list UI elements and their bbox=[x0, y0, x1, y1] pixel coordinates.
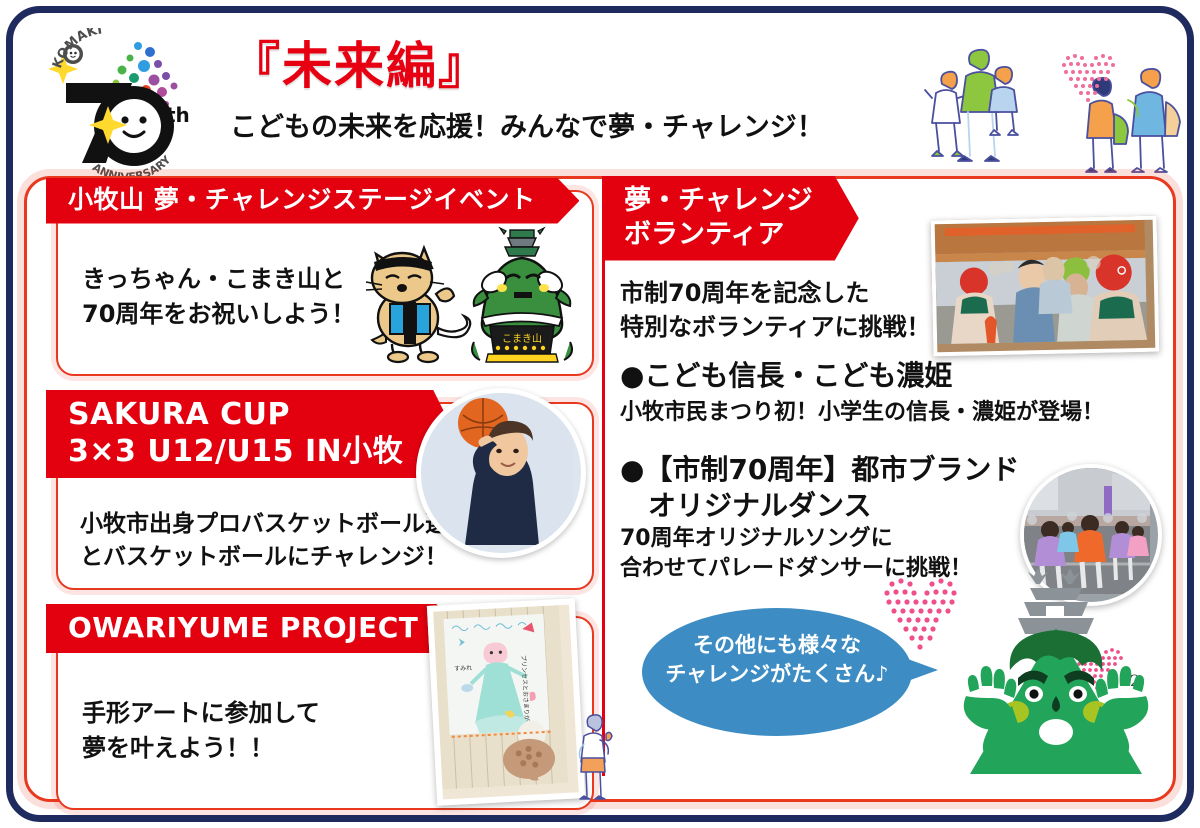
left-column: 小牧山 夢・チャレンジステージイベント きっちゃん・こまき山と 70周年をお祝い… bbox=[24, 176, 594, 802]
childrens-artwork-photo: プリンセスとおさまりがいいたい すみれ bbox=[427, 598, 585, 805]
volunteer-intro-text: 市制70周年を記念した 特別なボランティアに挑戦！ bbox=[620, 276, 931, 344]
poster-page: th KOMAKI ANNIVERSARY bbox=[0, 0, 1200, 828]
svg-text:th: th bbox=[166, 103, 190, 127]
volunteer-section-ribbon: 夢・チャレンジ ボランティア bbox=[602, 176, 859, 261]
card-owariyume-project-body: 手形アートに参加して 夢を叶えよう！！ bbox=[82, 696, 320, 766]
page-subtitle: こどもの未来を応援！みんなで夢・チャレンジ！ bbox=[230, 105, 824, 144]
item-kodomo-nobunaga-heading: ●こども信長・こども濃姫 bbox=[620, 358, 952, 394]
item-kodomo-nobunaga-body: 小牧市民まつり初！小学生の信長・濃姫が登場！ bbox=[620, 398, 1104, 428]
item-original-dance-heading: ●【市制70周年】都市ブランド オリジナルダンス bbox=[620, 452, 1019, 525]
kicchan-and-komakiyama-mascots-illustration: こまき山 bbox=[346, 226, 584, 366]
card-sakura-cup-body: 小牧市出身プロバスケットボール選手 とバスケットボールにチャレンジ！ bbox=[80, 508, 471, 575]
svg-text:こまき山: こまき山 bbox=[502, 333, 542, 345]
right-column: 夢・チャレンジ ボランティア bbox=[594, 176, 1176, 802]
speech-bubble-text: その他にも様々な チャレンジがたくさん♪ bbox=[642, 631, 912, 690]
card-stage-event-body: きっちゃん・こまき山と 70周年をお祝いしよう！ bbox=[82, 262, 355, 332]
page-title: 『未来編』 bbox=[230, 40, 824, 93]
card-sakura-cup[interactable]: SAKURA CUP 3×3 U12/U15 IN小牧 小牧市出身プロバスケット… bbox=[56, 402, 594, 590]
komakiyama-character bbox=[946, 566, 1166, 781]
card-owariyume-project[interactable]: OWARIYUME PROJECT 手形アートに参加して 夢を叶えよう！！ bbox=[56, 616, 594, 810]
volunteer-festival-photo bbox=[931, 216, 1160, 357]
card-stage-event-ribbon: 小牧山 夢・チャレンジステージイベント bbox=[46, 178, 579, 224]
komaki-70th-anniversary-logo: th KOMAKI ANNIVERSARY bbox=[42, 28, 210, 178]
card-owariyume-project-ribbon: OWARIYUME PROJECT bbox=[46, 604, 458, 653]
title-block: 『未来編』 こどもの未来を応援！みんなで夢・チャレンジ！ bbox=[230, 40, 824, 144]
heart-dot-pattern-header bbox=[1054, 48, 1124, 114]
svg-text:すみれ: すみれ bbox=[454, 665, 472, 673]
svg-text:KOMAKI: KOMAKI bbox=[50, 28, 103, 70]
person-with-phone-illustration bbox=[572, 710, 616, 800]
right-column-accent-line bbox=[602, 176, 605, 776]
card-stage-event[interactable]: 小牧山 夢・チャレンジステージイベント きっちゃん・こまき山と 70周年をお祝い… bbox=[56, 190, 594, 376]
page-header: th KOMAKI ANNIVERSARY bbox=[34, 22, 1164, 172]
people-illustration-top bbox=[896, 38, 1196, 188]
content-columns: 小牧山 夢・チャレンジステージイベント きっちゃん・こまき山と 70周年をお祝い… bbox=[24, 176, 1176, 802]
basketball-player-photo bbox=[416, 388, 586, 558]
card-sakura-cup-ribbon: SAKURA CUP 3×3 U12/U15 IN小牧 bbox=[46, 390, 455, 478]
